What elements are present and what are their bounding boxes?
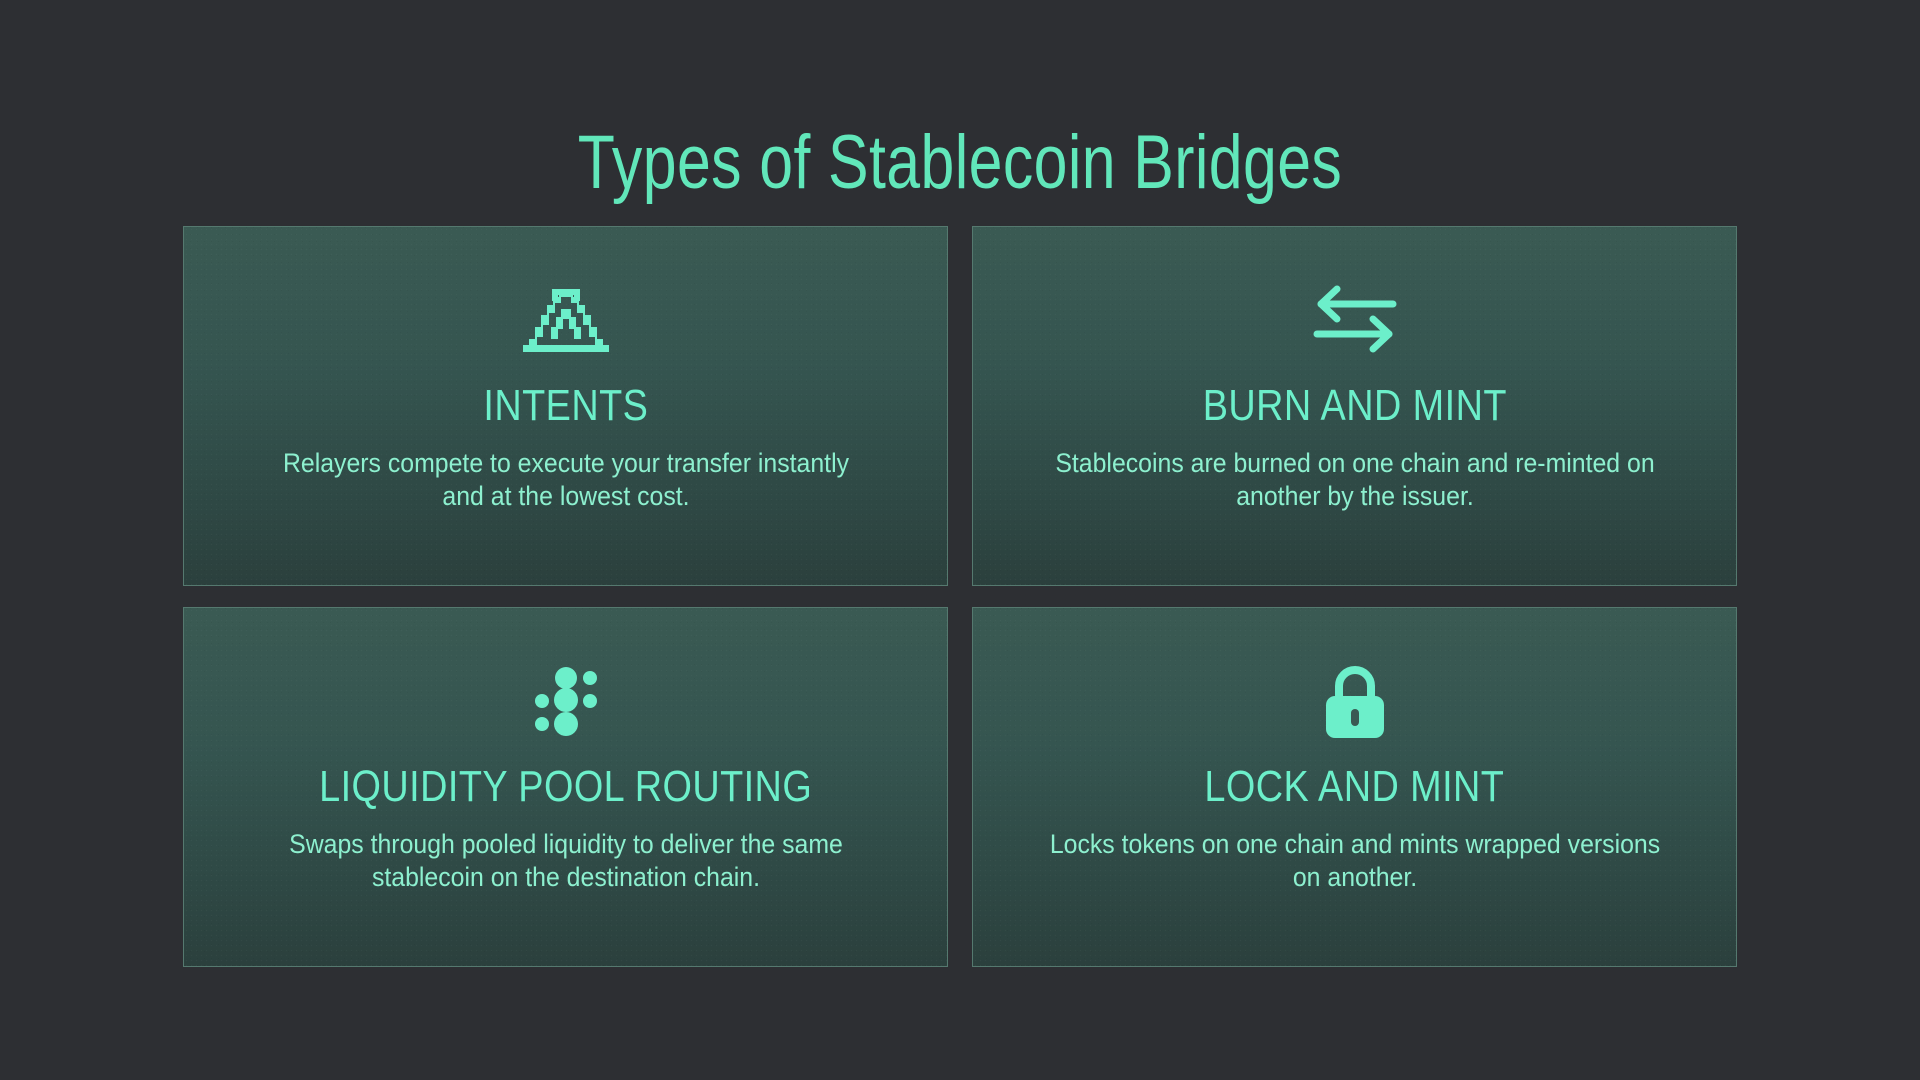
infographic-page: Types of Stablecoin Bridges (0, 0, 1920, 1080)
card-description-lock-and-mint: Locks tokens on one chain and mints wrap… (1033, 828, 1677, 894)
bridge-types-grid: INTENTS Relayers compete to execute your… (183, 226, 1737, 967)
card-intents[interactable]: INTENTS Relayers compete to execute your… (183, 226, 948, 586)
card-liquidity-pool-routing[interactable]: LIQUIDITY POOL ROUTING Swaps through poo… (183, 607, 948, 967)
bridge-arches-icon (521, 279, 611, 359)
card-lock-and-mint[interactable]: LOCK AND MINT Locks tokens on one chain … (972, 607, 1737, 967)
card-description-burn-and-mint: Stablecoins are burned on one chain and … (1033, 447, 1677, 513)
liquidity-dots-icon (535, 660, 597, 740)
card-title-intents: INTENTS (483, 383, 648, 429)
card-description-intents: Relayers compete to execute your transfe… (271, 447, 860, 513)
card-title-burn-and-mint: BURN AND MINT (1202, 383, 1506, 429)
card-description-liquidity-pool-routing: Swaps through pooled liquidity to delive… (244, 828, 888, 894)
page-title: Types of Stablecoin Bridges (192, 121, 1728, 205)
two-way-arrows-icon (1309, 279, 1401, 359)
card-title-lock-and-mint: LOCK AND MINT (1205, 764, 1505, 810)
card-burn-and-mint[interactable]: BURN AND MINT Stablecoins are burned on … (972, 226, 1737, 586)
card-title-liquidity-pool-routing: LIQUIDITY POOL ROUTING (319, 764, 812, 810)
padlock-icon (1321, 660, 1389, 740)
